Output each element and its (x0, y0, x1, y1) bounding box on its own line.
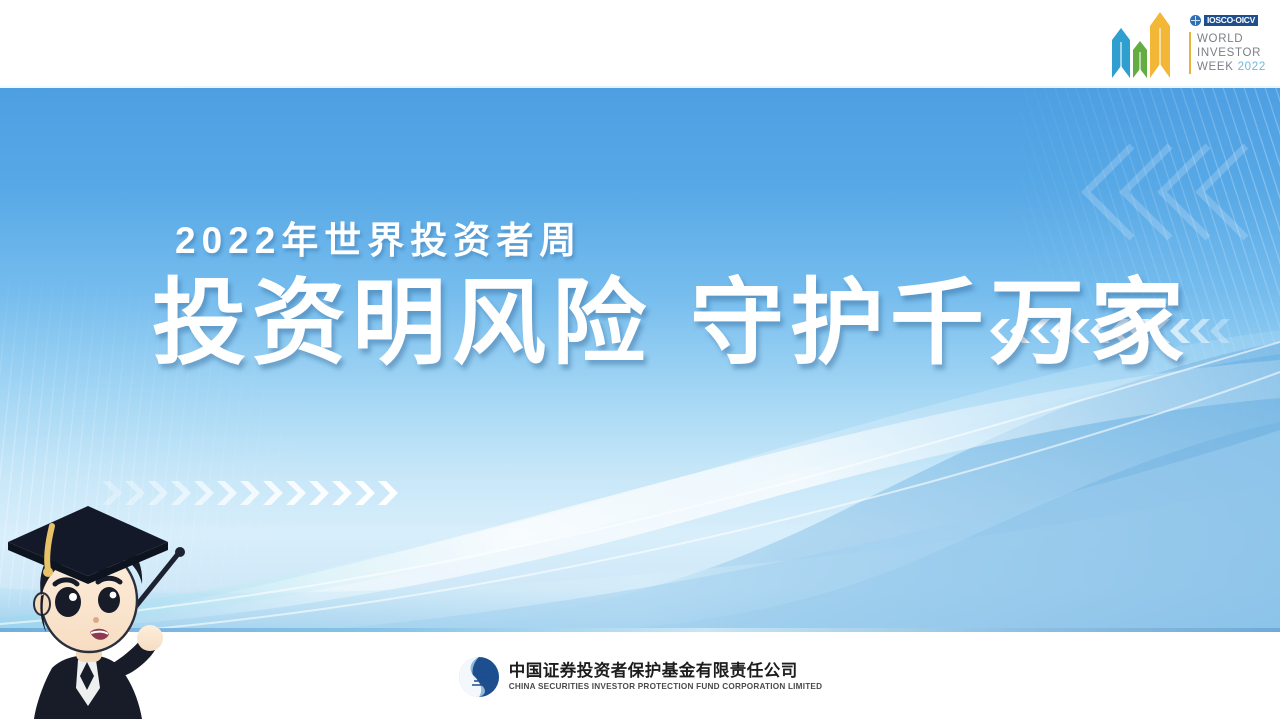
pencil-yellow (1150, 12, 1170, 78)
iosco-logo: IOSCO·OICV (1188, 14, 1260, 27)
mascot-hand (137, 625, 163, 651)
wiw-line-3: WEEK 2022 (1197, 60, 1273, 74)
sipf-name-cn: 中国证券投资者保护基金有限责任公司 (509, 662, 823, 680)
ghost-chevron-decoration (1052, 118, 1262, 268)
banner-headline: 投资明风险守护千万家 (152, 273, 1190, 373)
sipf-name-block: 中国证券投资者保护基金有限责任公司 CHINA SECURITIES INVES… (509, 662, 823, 691)
wiw-line-1: WORLD (1197, 32, 1273, 46)
mascot-eye-left (55, 587, 81, 617)
sipf-emblem-icon (458, 656, 500, 698)
headline-part-1: 投资明风险 (152, 270, 652, 375)
pencils-svg (1100, 10, 1182, 86)
world-investor-week-logo: IOSCO·OICV WORLD INVESTOR WEEK 2022 (1100, 4, 1272, 86)
wiw-year: 2022 (1238, 61, 1266, 73)
wiw-wordmark-group: IOSCO·OICV WORLD INVESTOR WEEK 2022 (1186, 8, 1272, 86)
pencils-icon (1100, 10, 1182, 86)
page-header: IOSCO·OICV WORLD INVESTOR WEEK 2022 (0, 0, 1280, 88)
wiw-week-label: WEEK (1197, 61, 1234, 73)
mortarboard-top (8, 506, 168, 576)
pencil-green (1133, 41, 1147, 78)
wiw-wordmark: WORLD INVESTOR WEEK 2022 (1189, 32, 1273, 74)
sipf-logo-lockup: 中国证券投资者保护基金有限责任公司 CHINA SECURITIES INVES… (458, 656, 823, 698)
mascot-mortarboard (8, 506, 168, 584)
iosco-abbrev: IOSCO·OICV (1204, 15, 1258, 26)
headline-part-2: 守护千万家 (690, 270, 1190, 375)
sipf-name-en: CHINA SECURITIES INVESTOR PROTECTION FUN… (509, 682, 823, 691)
banner-poster: IOSCO·OICV WORLD INVESTOR WEEK 2022 (0, 0, 1280, 719)
banner-kicker: 2022年世界投资者周 (175, 210, 582, 264)
iosco-globe-icon (1190, 15, 1201, 26)
wiw-line-2: INVESTOR (1197, 46, 1273, 60)
pencil-blue (1112, 28, 1130, 78)
mascot-graduate-icon (0, 492, 207, 719)
mascot-eye-right (98, 587, 120, 613)
